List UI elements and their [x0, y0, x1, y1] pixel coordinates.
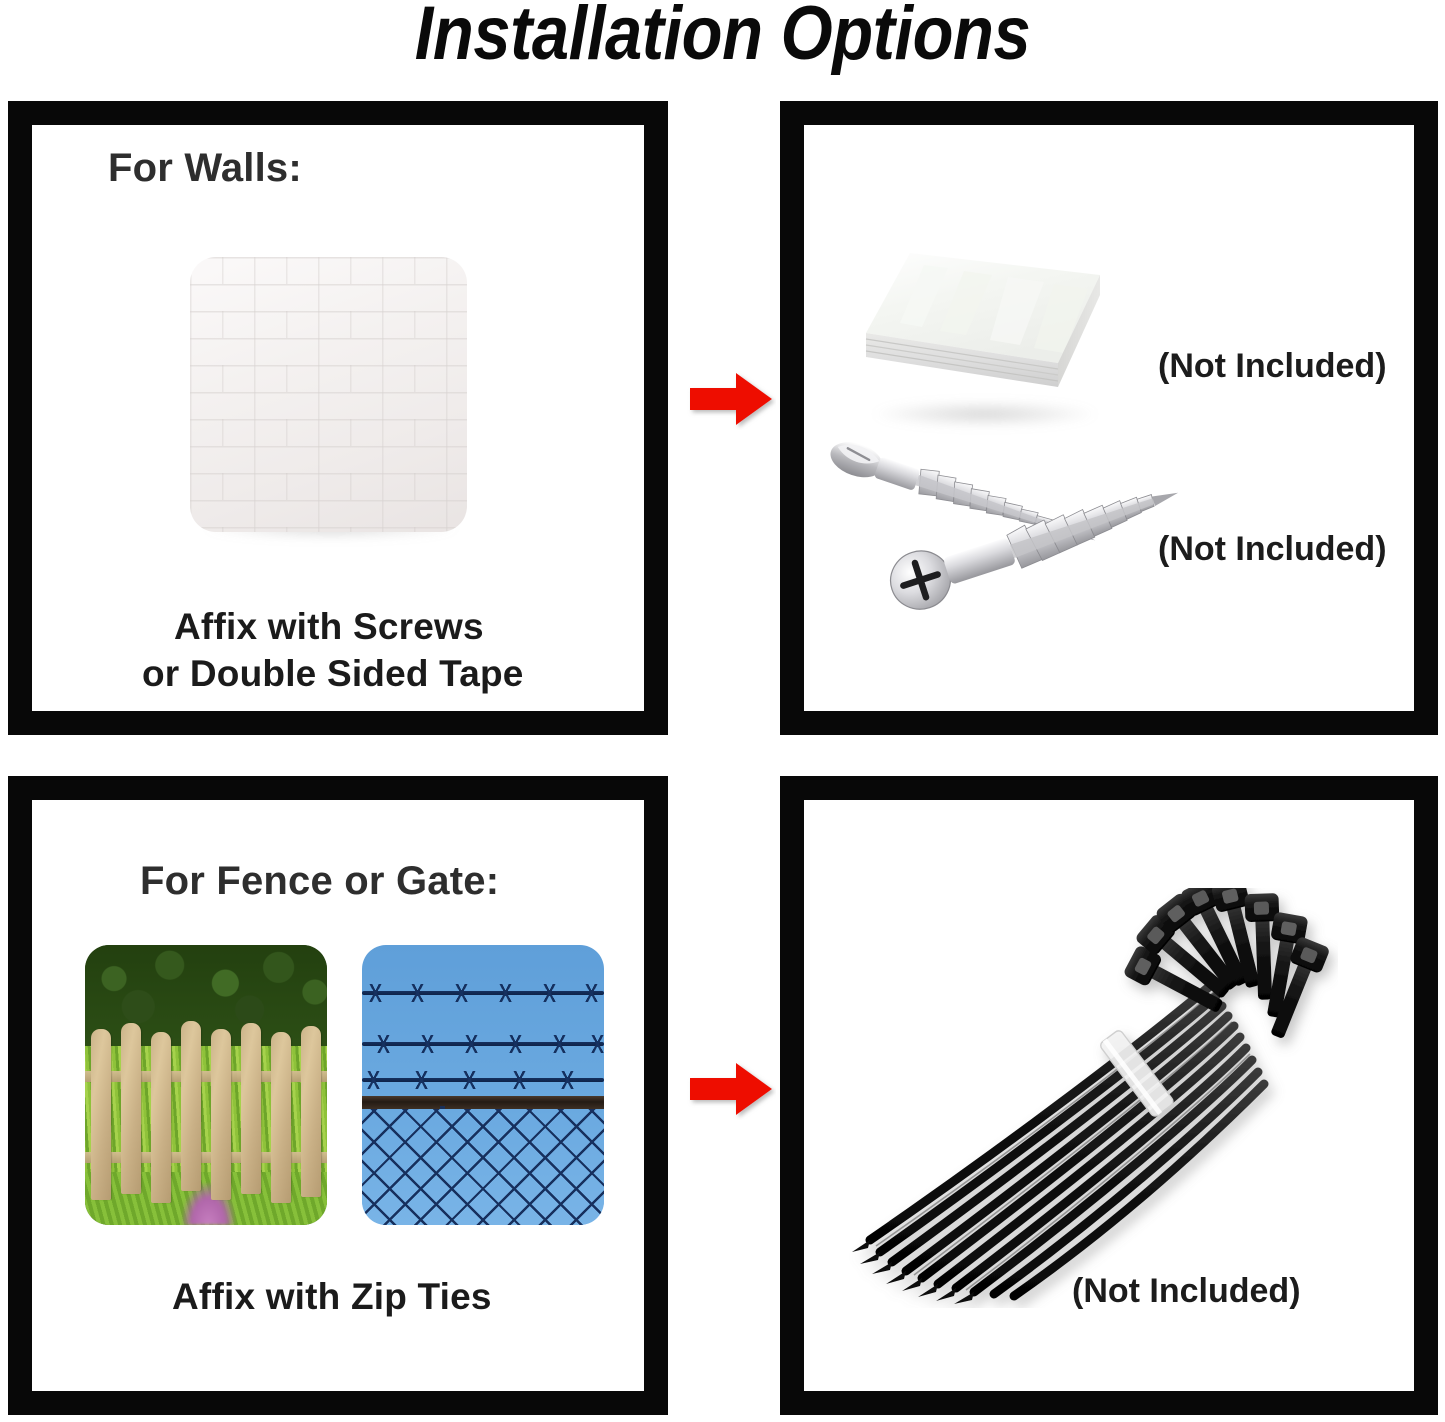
walls-caption-line-1: Affix with Screws — [174, 606, 484, 648]
fence-picket — [91, 1029, 111, 1200]
fence-caption: Affix with Zip Ties — [172, 1276, 492, 1318]
wooden-picket-fence-photo — [85, 945, 327, 1225]
fence-picket — [181, 1021, 201, 1192]
barb — [376, 1035, 391, 1053]
barb — [414, 1071, 429, 1089]
barbed-wire-strand — [362, 984, 604, 1002]
panel-zip-ties: (Not Included) — [780, 776, 1438, 1415]
panel-zip-ties-inner: (Not Included) — [804, 800, 1414, 1391]
right-arrow-icon-bottom — [686, 1058, 776, 1125]
chainlink-mesh — [362, 1109, 604, 1225]
barb — [464, 1035, 479, 1053]
fence-picket — [151, 1032, 171, 1203]
barb — [552, 1035, 567, 1053]
barb — [512, 1071, 527, 1089]
right-arrow-icon-top — [686, 368, 776, 435]
panel-wall-hardware: (Not Included) — [780, 101, 1438, 735]
barb — [454, 984, 469, 1002]
barb — [560, 1071, 575, 1089]
double-sided-tape-stack — [852, 235, 1122, 430]
barb — [368, 984, 383, 1002]
barbed-wire-line — [362, 1042, 604, 1046]
barbed-wire-strand — [362, 1071, 604, 1089]
for-fence-heading: For Fence or Gate: — [140, 859, 499, 904]
panel-for-fence-inner: For Fence or Gate: — [32, 800, 644, 1391]
barb — [542, 984, 557, 1002]
panel-for-walls: For Walls: Affix with Screws or Double S… — [8, 101, 668, 735]
fence-picket — [241, 1023, 261, 1194]
tape-not-included-label: (Not Included) — [1158, 347, 1387, 386]
barb — [590, 1035, 604, 1053]
fence-picket — [211, 1029, 231, 1200]
barb — [498, 984, 513, 1002]
page-title: Installation Options — [87, 0, 1359, 74]
panel-for-fence-or-gate: For Fence or Gate: — [8, 776, 668, 1415]
barb — [584, 984, 599, 1002]
barbed-wire-strand — [362, 1035, 604, 1053]
screws-not-included-label: (Not Included) — [1158, 530, 1387, 569]
for-walls-heading: For Walls: — [108, 146, 302, 191]
barb — [462, 1071, 477, 1089]
chainlink-top-rail — [362, 1096, 604, 1109]
fence-picket — [301, 1026, 321, 1197]
white-brick-wall-swatch — [190, 257, 467, 532]
barb — [508, 1035, 523, 1053]
barb — [410, 984, 425, 1002]
fence-picket — [271, 1032, 291, 1203]
barb — [366, 1071, 381, 1089]
black-zip-tie-bundle — [818, 888, 1338, 1313]
fence-picket — [121, 1023, 141, 1194]
panel-wall-hardware-inner: (Not Included) — [804, 125, 1414, 711]
walls-caption-line-2: or Double Sided Tape — [142, 653, 524, 695]
infographic-root: Installation Options For Walls: Affix wi… — [0, 0, 1445, 1422]
chain-link-barbed-wire-fence-photo — [362, 945, 604, 1225]
zip-ties-not-included-label: (Not Included) — [1072, 1272, 1301, 1311]
panel-for-walls-inner: For Walls: Affix with Screws or Double S… — [32, 125, 644, 711]
barbed-wire-line — [362, 991, 604, 995]
barb — [420, 1035, 435, 1053]
